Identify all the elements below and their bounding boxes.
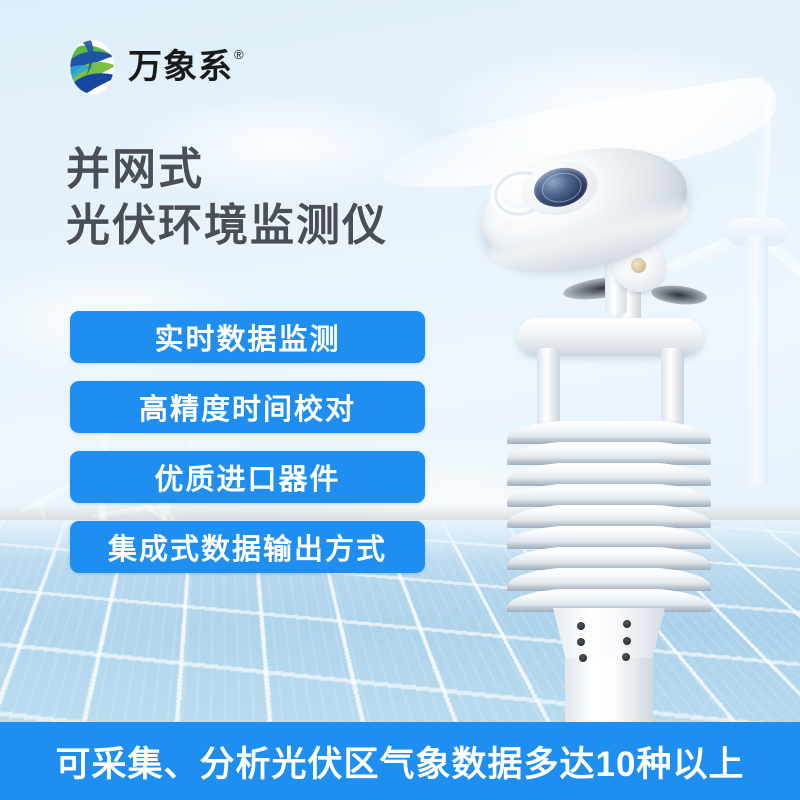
brand-name: 万象系 bbox=[128, 50, 233, 84]
bottom-banner-text: 可采集、分析光伏区气象数据多达10种以上 bbox=[56, 736, 745, 787]
louver-plate bbox=[507, 462, 711, 486]
sensor-base-taper bbox=[553, 608, 665, 662]
turbine-blade bbox=[752, 82, 775, 233]
vent-hole bbox=[623, 620, 631, 628]
headline-line-1: 并网式 bbox=[66, 142, 388, 198]
louver-plate bbox=[507, 525, 711, 549]
brand-wordmark: 万象系 ® bbox=[128, 50, 244, 84]
vent-hole bbox=[577, 622, 585, 630]
louver-plate bbox=[507, 546, 711, 570]
louver-plate bbox=[507, 567, 711, 591]
headline-line-2: 光伏环境监测仪 bbox=[66, 198, 388, 254]
feature-badge-integrated-output[interactable]: 集成式数据输出方式 bbox=[70, 521, 425, 573]
shield-support-post-left bbox=[537, 348, 560, 428]
louver-plate bbox=[507, 441, 711, 465]
product-image bbox=[455, 140, 755, 700]
product-advertisement-banner: 万象系 ® 并网式 光伏环境监测仪 实时数据监测 高精度时间校对 优质进口器件 … bbox=[0, 0, 800, 800]
vent-hole bbox=[579, 654, 587, 662]
vent-hole bbox=[577, 638, 585, 646]
feature-badge-realtime-monitoring[interactable]: 实时数据监测 bbox=[70, 311, 425, 363]
feature-badge-time-calibration[interactable]: 高精度时间校对 bbox=[70, 381, 425, 433]
vent-hole bbox=[622, 653, 630, 661]
bottom-banner: 可采集、分析光伏区气象数据多达10种以上 bbox=[0, 722, 800, 800]
louver-plate bbox=[507, 483, 711, 507]
trademark-symbol: ® bbox=[234, 48, 244, 61]
page-title: 并网式 光伏环境监测仪 bbox=[66, 142, 388, 255]
feature-badge-imported-components[interactable]: 优质进口器件 bbox=[70, 451, 425, 503]
brand-logo[interactable]: 万象系 ® bbox=[64, 38, 244, 96]
louver-plate bbox=[507, 504, 711, 528]
vent-hole bbox=[623, 637, 631, 645]
shield-support-post-right bbox=[661, 348, 684, 428]
louver-plate bbox=[507, 420, 711, 444]
globe-swoosh-icon bbox=[64, 38, 120, 96]
feature-badge-list: 实时数据监测 高精度时间校对 优质进口器件 集成式数据输出方式 bbox=[70, 311, 425, 573]
radiation-shield-louvers bbox=[507, 420, 711, 616]
